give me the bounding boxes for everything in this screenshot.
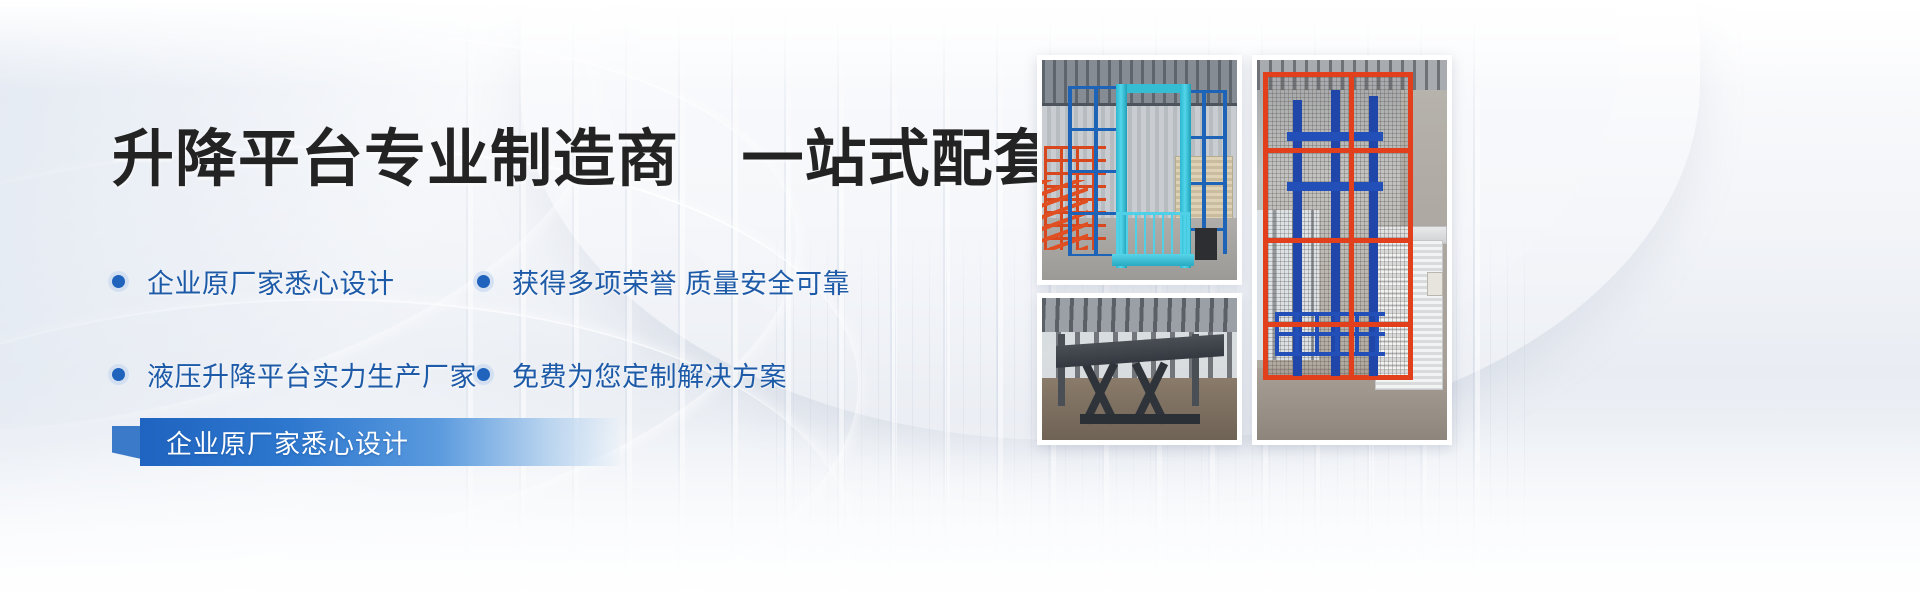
feature-item-3: 液压升降平台实力生产厂家 bbox=[112, 355, 477, 394]
lift-platform bbox=[1112, 254, 1194, 266]
feature-label-2: 获得多项荣誉 质量安全可靠 bbox=[512, 262, 850, 301]
feature-item-2: 获得多项荣誉 质量安全可靠 bbox=[477, 262, 842, 301]
bullet-dot-icon bbox=[477, 368, 490, 381]
feature-item-1: 企业原厂家悉心设计 bbox=[112, 262, 477, 301]
photo-image-caged-guide-rail-lift bbox=[1257, 60, 1447, 440]
bullet-dot-icon bbox=[112, 368, 125, 381]
blue-cross-beam-1 bbox=[1287, 132, 1383, 141]
ribbon-bar: 企业原厂家悉心设计 bbox=[140, 418, 620, 466]
banner-content: 升降平台专业制造商 一站式配套服务 企业原厂家悉心设计 获得多项荣誉 质量安全可… bbox=[0, 0, 1040, 600]
feature-item-4: 免费为您定制解决方案 bbox=[477, 355, 842, 394]
product-photo-caged-guide-rail-lift[interactable] bbox=[1252, 55, 1452, 445]
photo-image-scissor-lift bbox=[1042, 298, 1237, 440]
feature-label-3: 液压升降平台实力生产厂家 bbox=[147, 355, 477, 394]
lift-carriage bbox=[1275, 312, 1385, 356]
ribbon-label: 企业原厂家悉心设计 bbox=[140, 424, 409, 461]
feature-label-1: 企业原厂家悉心设计 bbox=[147, 262, 395, 301]
workshop-roof bbox=[1042, 298, 1237, 332]
product-photo-scissor-lift[interactable] bbox=[1037, 293, 1242, 445]
cage-rail-h2 bbox=[1263, 238, 1413, 243]
electrical-panel bbox=[1427, 272, 1443, 296]
product-photo-gallery bbox=[1020, 0, 1920, 600]
cage-rail-h1 bbox=[1263, 148, 1413, 153]
photo-image-cyan-cargo-lift bbox=[1042, 60, 1237, 280]
lift-railing bbox=[1116, 212, 1190, 254]
feature-list: 企业原厂家悉心设计 获得多项荣誉 质量安全可靠 液压升降平台实力生产厂家 免费为… bbox=[112, 262, 942, 394]
bullet-dot-icon bbox=[477, 275, 490, 288]
feature-label-4: 免费为您定制解决方案 bbox=[512, 355, 787, 394]
product-photo-cyan-cargo-lift[interactable] bbox=[1037, 55, 1242, 285]
scissor-lift-base bbox=[1080, 414, 1200, 424]
promo-banner: 升降平台专业制造商 一站式配套服务 企业原厂家悉心设计 获得多项荣誉 质量安全可… bbox=[0, 0, 1920, 600]
headline-part-1: 升降平台专业制造商 bbox=[112, 125, 679, 194]
control-box bbox=[1195, 228, 1217, 260]
cage-rail-vertical bbox=[1349, 72, 1354, 380]
bullet-dot-icon bbox=[112, 275, 125, 288]
blue-cross-beam-2 bbox=[1287, 182, 1383, 191]
cage-rail-h3 bbox=[1263, 322, 1413, 327]
